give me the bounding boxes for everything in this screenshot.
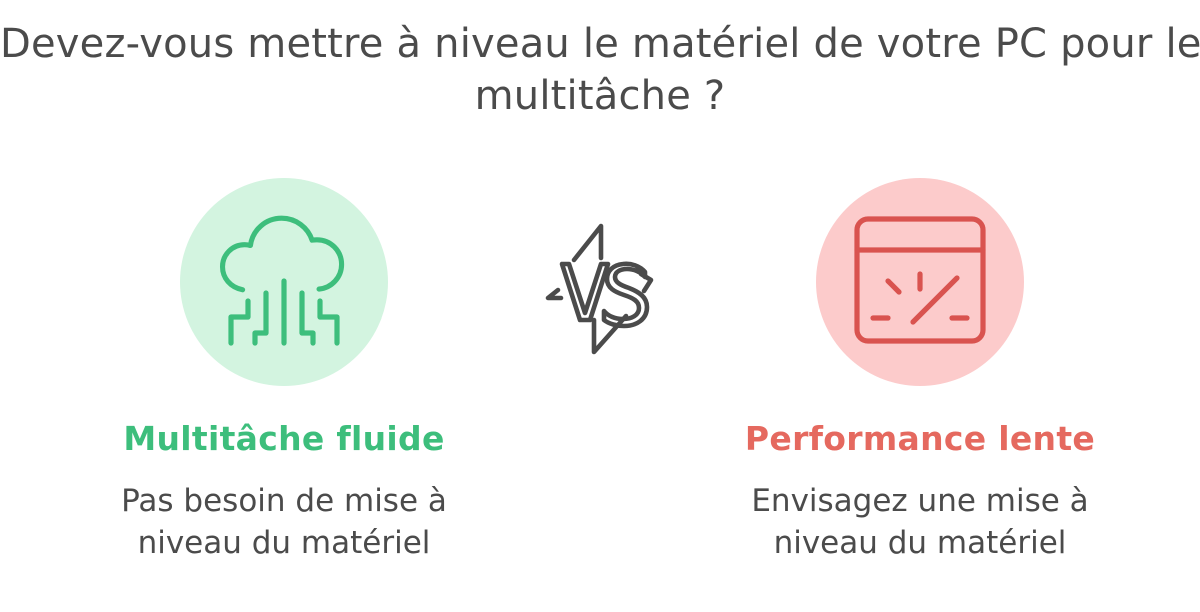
right-icon-circle <box>816 178 1024 386</box>
page-title: Devez-vous mettre à niveau le matériel d… <box>0 18 1200 122</box>
browser-speedometer-icon <box>845 205 995 359</box>
comparison-card-left: Multitâche fluide Pas besoin de mise à n… <box>44 178 524 564</box>
title-line-2: multitâche ? <box>0 70 1200 122</box>
infographic-canvas: Devez-vous mettre à niveau le matériel d… <box>0 0 1200 612</box>
left-icon-circle <box>180 178 388 386</box>
right-card-description: Envisagez une mise à niveau du matériel <box>680 480 1160 564</box>
versus-separator <box>528 212 672 364</box>
right-card-label: Performance lente <box>680 419 1160 459</box>
comparison-card-right: Performance lente Envisagez une mise à n… <box>680 178 1160 564</box>
left-card-description: Pas besoin de mise à niveau du matériel <box>44 480 524 564</box>
cloud-circuit-icon <box>209 205 359 359</box>
versus-spark-icon <box>528 212 672 364</box>
left-card-label: Multitâche fluide <box>44 419 524 459</box>
title-line-1: Devez-vous mettre à niveau le matériel d… <box>0 18 1200 70</box>
